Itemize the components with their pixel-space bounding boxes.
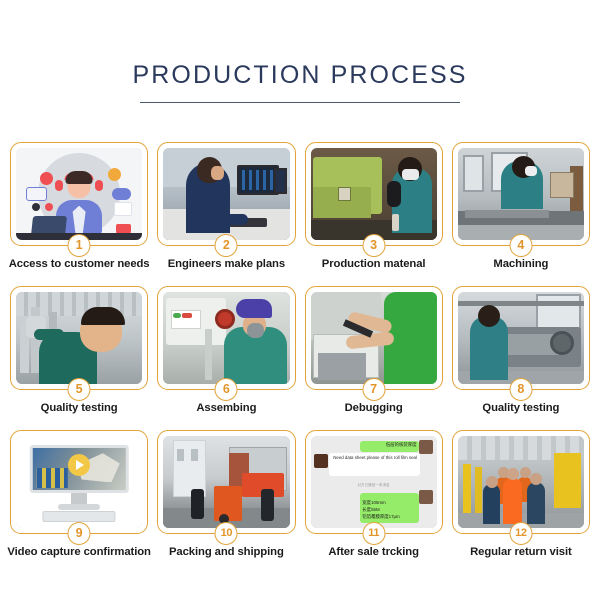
process-step-grid: 1 Access to customer needs 2 Engineers m… bbox=[10, 142, 590, 573]
step-badge-1: 1 bbox=[68, 234, 91, 257]
card-frame-8: 8 bbox=[452, 286, 590, 390]
chat-bubble-incoming-text: Need data sheet please of this roll film… bbox=[333, 455, 419, 462]
team-group-photo bbox=[458, 436, 584, 528]
container-loading-photo bbox=[163, 436, 289, 528]
engineer-at-computer-photo bbox=[163, 148, 289, 240]
card-frame-9: 9 bbox=[10, 430, 148, 534]
card-frame-12: 12 bbox=[452, 430, 590, 534]
process-step-card-1[interactable]: 1 Access to customer needs bbox=[10, 142, 148, 285]
process-step-card-2[interactable]: 2 Engineers make plans bbox=[157, 142, 295, 285]
chat-avatar-right-2 bbox=[419, 490, 433, 504]
process-step-card-4[interactable]: 4 Machining bbox=[452, 142, 590, 285]
card-frame-1: 1 bbox=[10, 142, 148, 246]
step-label-8: Quality testing bbox=[448, 402, 594, 414]
chat-bubble-outgoing-2-text: 宽度105mm 长度55M 铝箔覆膜厚度17μm bbox=[362, 499, 416, 521]
step-label-9: Video capture confirmation bbox=[6, 546, 152, 558]
step-badge-10: 10 bbox=[215, 522, 238, 545]
process-step-card-7[interactable]: 7 Debugging bbox=[305, 286, 443, 429]
step-badge-7: 7 bbox=[362, 378, 385, 401]
step-badge-3: 3 bbox=[362, 234, 385, 257]
hands-tool-debugging-photo bbox=[311, 292, 437, 384]
chat-system-notice: 对方已撤回一条消息 bbox=[357, 482, 389, 487]
step-badge-8: 8 bbox=[509, 378, 532, 401]
monitor-video-play-photo bbox=[16, 436, 142, 528]
step-image-7 bbox=[311, 292, 437, 384]
lathe-machine-photo bbox=[458, 292, 584, 384]
process-step-card-8[interactable]: 8 Quality testing bbox=[452, 286, 590, 429]
page-title: PRODUCTION PROCESS bbox=[0, 62, 600, 90]
card-frame-3: 3 bbox=[305, 142, 443, 246]
step-image-12 bbox=[458, 436, 584, 528]
chat-screenshot: 低层的核装厚度 Need data sheet please of this r… bbox=[311, 436, 437, 528]
step-badge-6: 6 bbox=[215, 378, 238, 401]
step-label-3: Production matenal bbox=[301, 258, 447, 270]
step-badge-9: 9 bbox=[68, 522, 91, 545]
step-badge-2: 2 bbox=[215, 234, 238, 257]
customer-service-illustration bbox=[16, 148, 142, 240]
step-image-6 bbox=[163, 292, 289, 384]
spec-length: 长度55M bbox=[362, 506, 416, 513]
green-machine-operator-photo bbox=[311, 148, 437, 240]
step-badge-11: 11 bbox=[362, 522, 385, 545]
assembly-respirator-photo bbox=[163, 292, 289, 384]
pipework-inspection-photo bbox=[16, 292, 142, 384]
card-frame-4: 4 bbox=[452, 142, 590, 246]
step-label-5: Quality testing bbox=[6, 402, 152, 414]
step-label-10: Packing and shipping bbox=[153, 546, 299, 558]
title-underline bbox=[140, 102, 460, 104]
step-label-4: Machining bbox=[448, 258, 594, 270]
step-image-1 bbox=[16, 148, 142, 240]
step-badge-5: 5 bbox=[68, 378, 91, 401]
process-step-card-6[interactable]: 6 Assembing bbox=[157, 286, 295, 429]
step-image-3 bbox=[311, 148, 437, 240]
chat-avatar-left bbox=[314, 454, 328, 468]
spec-width: 宽度105mm bbox=[362, 499, 416, 506]
step-badge-12: 12 bbox=[509, 522, 532, 545]
card-frame-5: 5 bbox=[10, 286, 148, 390]
step-label-1: Access to customer needs bbox=[6, 258, 152, 270]
step-image-2 bbox=[163, 148, 289, 240]
machining-workbench-photo bbox=[458, 148, 584, 240]
step-label-2: Engineers make plans bbox=[153, 258, 299, 270]
step-label-7: Debugging bbox=[301, 402, 447, 414]
card-frame-7: 7 bbox=[305, 286, 443, 390]
step-image-9 bbox=[16, 436, 142, 528]
process-step-card-11[interactable]: 低层的核装厚度 Need data sheet please of this r… bbox=[305, 430, 443, 573]
process-step-card-5[interactable]: 5 Quality testing bbox=[10, 286, 148, 429]
video-play-icon bbox=[68, 454, 90, 476]
step-image-4 bbox=[458, 148, 584, 240]
chat-bubble-outgoing-1-text: 低层的核装厚度 bbox=[386, 442, 417, 448]
process-step-card-9[interactable]: 9 Video capture confirmation bbox=[10, 430, 148, 573]
chat-avatar-right-1 bbox=[419, 440, 433, 454]
process-step-card-12[interactable]: 12 Regular return visit bbox=[452, 430, 590, 573]
card-frame-11: 低层的核装厚度 Need data sheet please of this r… bbox=[305, 430, 443, 534]
card-frame-10: 10 bbox=[157, 430, 295, 534]
step-label-12: Regular return visit bbox=[448, 546, 594, 558]
step-label-11: After sale trcking bbox=[301, 546, 447, 558]
process-step-card-10[interactable]: 10 Packing and shipping bbox=[157, 430, 295, 573]
step-image-10 bbox=[163, 436, 289, 528]
step-image-8 bbox=[458, 292, 584, 384]
step-badge-4: 4 bbox=[509, 234, 532, 257]
step-label-6: Assembing bbox=[153, 402, 299, 414]
card-frame-2: 2 bbox=[157, 142, 295, 246]
card-frame-6: 6 bbox=[157, 286, 295, 390]
process-step-card-3[interactable]: 3 Production matenal bbox=[305, 142, 443, 285]
spec-thickness: 铝箔覆膜厚度17μm bbox=[362, 513, 416, 520]
page-header: PRODUCTION PROCESS bbox=[0, 0, 600, 103]
step-image-5 bbox=[16, 292, 142, 384]
step-image-11: 低层的核装厚度 Need data sheet please of this r… bbox=[311, 436, 437, 528]
production-process-page: PRODUCTION PROCESS 1 bbox=[0, 0, 600, 600]
